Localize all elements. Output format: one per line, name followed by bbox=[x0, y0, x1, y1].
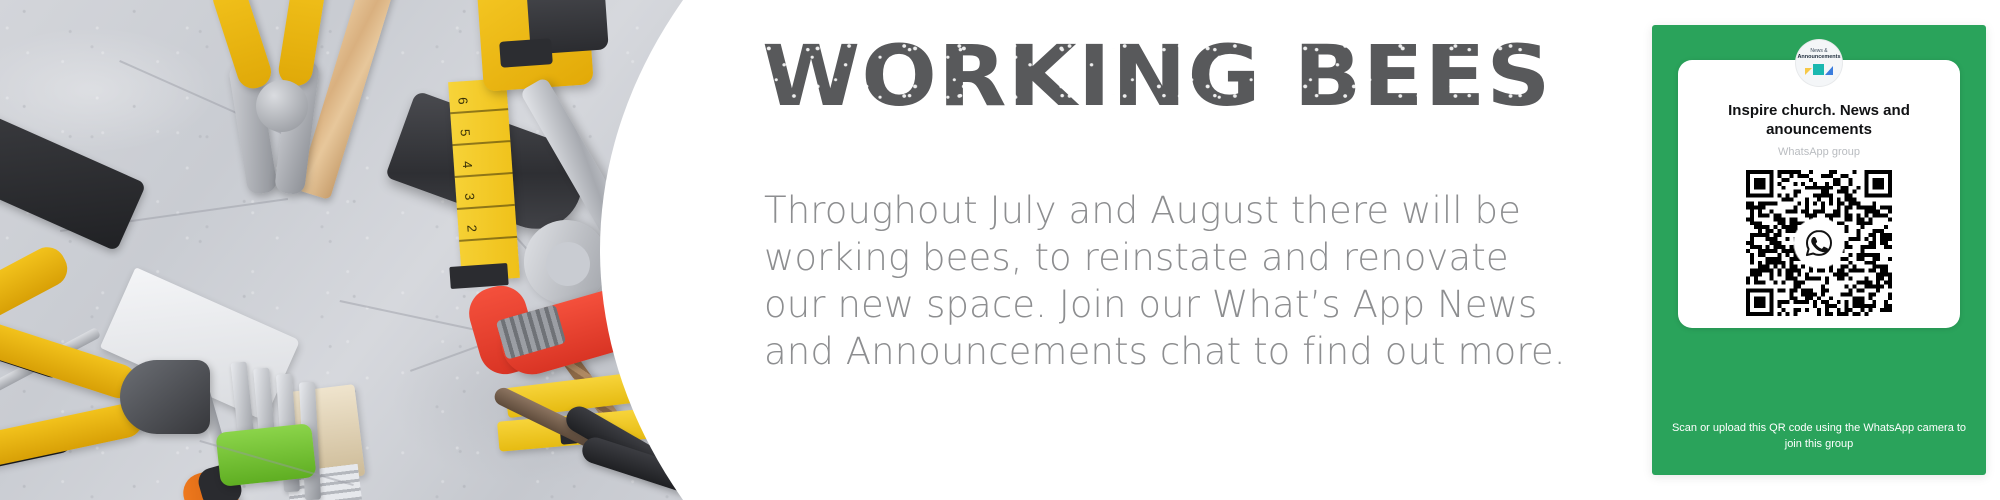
qr-instructions: Scan or upload this QR code using the Wh… bbox=[1670, 421, 1968, 453]
description-line: and Announcements chat to find out more. bbox=[764, 329, 1644, 376]
tape-number: 5 bbox=[458, 129, 473, 137]
avatar-shapes bbox=[1805, 64, 1833, 75]
page-title-text: WORKING BEES bbox=[762, 34, 1552, 118]
tape-number: 2 bbox=[464, 224, 479, 232]
tape-number: 4 bbox=[460, 160, 475, 168]
group-avatar: News & Announcements bbox=[1795, 39, 1843, 87]
avatar-line-2: Announcements bbox=[1797, 55, 1840, 61]
cutting-pliers-head-shape bbox=[120, 360, 210, 434]
qr-group-title: Inspire church. News and anouncements bbox=[1696, 102, 1942, 140]
banner-content: WORKING BEES Throughout July and August … bbox=[762, 0, 1642, 500]
description-line: our new space. Join our What’s App News bbox=[764, 282, 1644, 329]
whatsapp-icon bbox=[1802, 226, 1836, 260]
tape-number: 3 bbox=[462, 192, 477, 200]
tape-number: 6 bbox=[455, 97, 470, 105]
avatar-triangle-yellow-icon bbox=[1805, 68, 1812, 75]
description-line: Throughout July and August there will be bbox=[764, 188, 1644, 235]
qr-card-inner-panel: Inspire church. News and anouncements Wh… bbox=[1678, 60, 1960, 328]
pliers-pivot-shape bbox=[256, 80, 308, 132]
description-line: working bees, to reinstate and renovate bbox=[764, 235, 1644, 282]
tape-measure-lock-shape bbox=[499, 38, 553, 68]
whatsapp-qr-card[interactable]: Inspire church. News and anouncements Wh… bbox=[1652, 25, 1986, 475]
allen-key-green-clip-shape bbox=[215, 423, 316, 487]
working-bees-banner: 6 5 4 3 2 bbox=[0, 0, 2000, 500]
banner-description: Throughout July and August there will be… bbox=[764, 188, 1644, 376]
avatar-triangle-blue-icon bbox=[1825, 66, 1833, 75]
avatar-square-teal-icon bbox=[1813, 64, 1824, 75]
qr-group-subtitle: WhatsApp group bbox=[1696, 146, 1942, 158]
page-title: WORKING BEES bbox=[762, 34, 1695, 118]
